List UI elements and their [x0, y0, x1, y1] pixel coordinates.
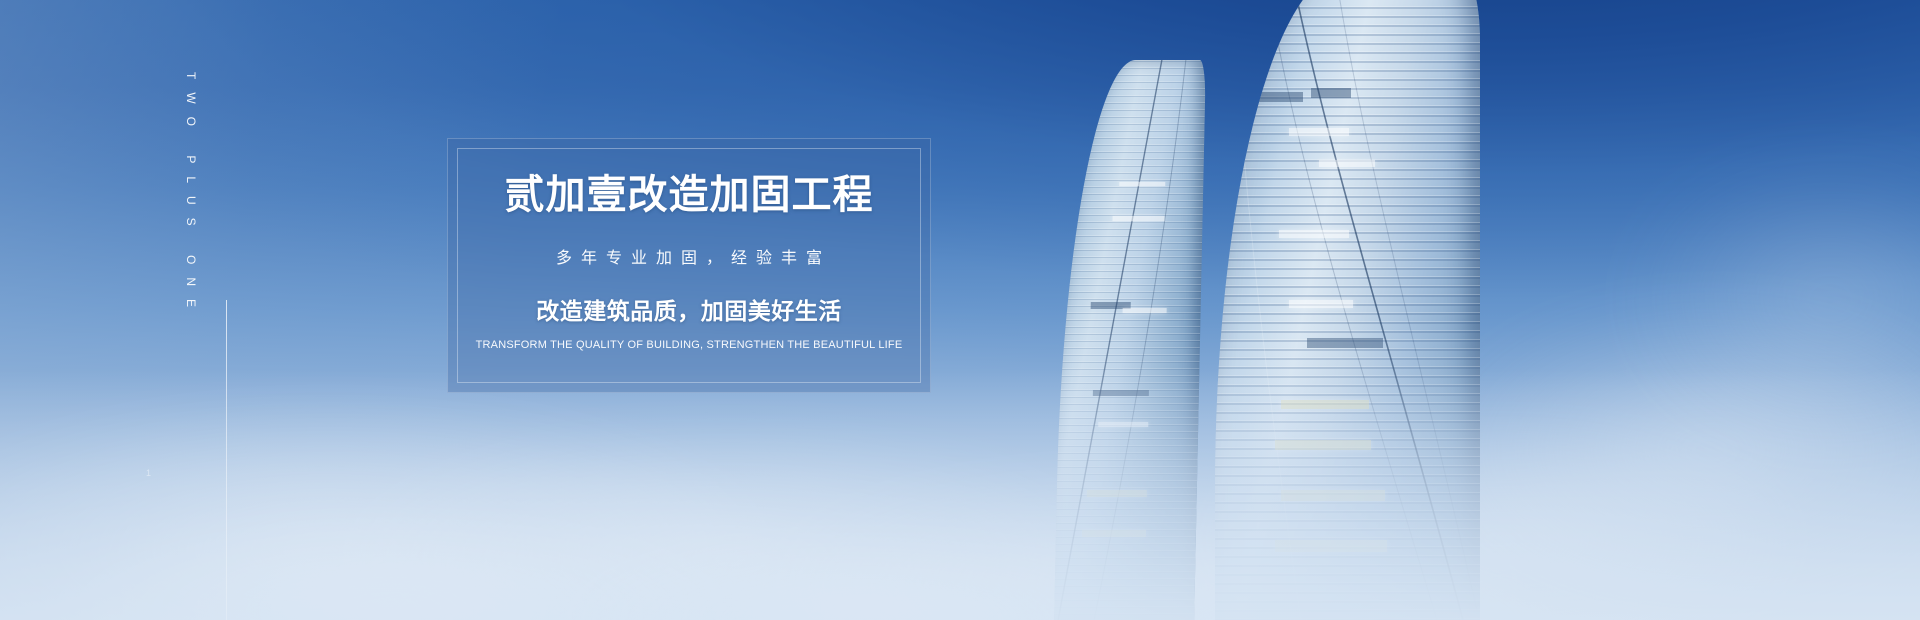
bottom-atmospheric-haze — [0, 370, 1920, 620]
brand-vertical-text: TWO PLUS ONE — [184, 72, 198, 320]
tower-window — [1279, 230, 1349, 238]
tower-window — [1307, 338, 1383, 348]
tower-window — [1119, 182, 1165, 186]
hero-panel-content: 贰加壹改造加固工程 多年专业加固，经验丰富 改造建筑品质，加固美好生活 TRAN… — [448, 173, 930, 351]
hero-text-panel: 贰加壹改造加固工程 多年专业加固，经验丰富 改造建筑品质，加固美好生活 TRAN… — [447, 138, 931, 393]
hero-slogan: 改造建筑品质，加固美好生活 — [448, 292, 930, 326]
tower-window — [1112, 216, 1164, 221]
brand-corner-mark: 1 — [146, 468, 152, 478]
tower-window — [1311, 88, 1351, 98]
hero-banner: TWO PLUS ONE 1 贰加壹改造加固工程 多年专业加固，经验丰富 改造建… — [0, 0, 1920, 620]
hero-subtitle: 多年专业加固，经验丰富 — [448, 244, 930, 268]
tower-window — [1289, 300, 1353, 308]
brand-vertical-divider — [226, 300, 227, 620]
brand-rail: TWO PLUS ONE 1 — [186, 0, 188, 620]
tower-window — [1319, 160, 1375, 167]
hero-english-tagline: TRANSFORM THE QUALITY OF BUILDING, STREN… — [448, 339, 930, 351]
hero-title: 贰加壹改造加固工程 — [448, 173, 930, 218]
tower-window — [1123, 308, 1167, 313]
tower-window — [1251, 92, 1303, 102]
tower-window — [1289, 128, 1349, 136]
